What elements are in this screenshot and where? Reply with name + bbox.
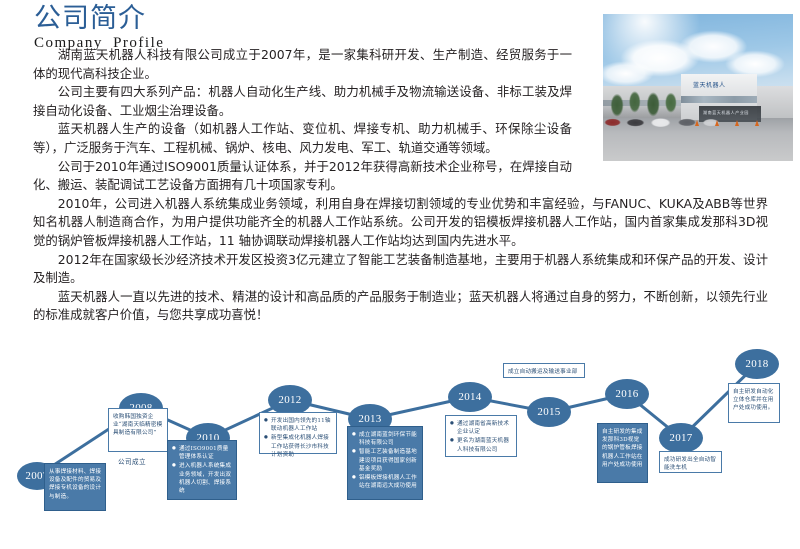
timeline-card-item: 成功研发出全自动智能洗车机 — [664, 456, 718, 472]
timeline-card-item: 自主研发的集成发那科3D视觉的锅炉管板焊接机器人工作站在用户处成功使用 — [602, 428, 644, 469]
timeline-card-item: 通过湖南省高新技术企业认定 — [457, 420, 513, 436]
timeline-node-2017[interactable]: 2017 — [659, 423, 703, 453]
timeline-node-2014[interactable]: 2014 — [448, 382, 492, 412]
timeline-card-item: 收购韩国独资企业“湖南天临精密模具制造有限公司” — [113, 413, 164, 438]
timeline-card-2010[interactable]: 通过ISO9001质量管理体系认证进入机器人系统集成业务领域，开发出双机器人切割… — [167, 440, 237, 500]
company-profile-text: 湖南蓝天机器人科技有限公司成立于2007年，是一家集科研开发、生产制造、经贸服务… — [33, 46, 768, 325]
timeline-card-item: 新型集成化机器人焊接工作站获得长沙市科技计划资助 — [271, 434, 333, 459]
timeline-card-list: 成立湖南蓝剑环保节能科技有限公司智能工艺装备制造基地建设项目获得国家创新基金奖励… — [352, 431, 419, 490]
timeline-card-item: 智能工艺装备制造基地建设项目获得国家创新基金奖励 — [359, 448, 419, 473]
timeline-card-2008[interactable]: 收购韩国独资企业“湖南天临精密模具制造有限公司” — [108, 408, 168, 452]
timeline-card-item: 成立自动搬运及输送事业部 — [508, 368, 581, 376]
timeline-card-2016[interactable]: 自主研发的集成发那科3D视觉的锅炉管板焊接机器人工作站在用户处成功使用 — [597, 423, 648, 483]
timeline-card-2018[interactable]: 自主研发自动化立体仓库并在用户处成功使用。 — [728, 383, 780, 423]
timeline-card-item: 进入机器人系统集成业务领域，开发出双机器人切割、焊接系统 — [179, 462, 233, 495]
timeline-card-item: 铝模板焊接机器人工作站在湖南远大成功使用 — [359, 474, 419, 490]
page-title-cn: 公司简介 — [34, 4, 454, 34]
timeline-card-2015[interactable]: 成立自动搬运及输送事业部 — [503, 363, 585, 378]
timeline-card-2007[interactable]: 从事焊接材料、焊接设备及配件的贸易及焊接专机设备的设计与制造。 — [44, 463, 106, 511]
timeline-node-2018[interactable]: 2018 — [735, 349, 779, 379]
timeline-card-2012[interactable]: 开发出国内领先的11轴联动机器人工作站新型集成化机器人焊接工作站获得长沙市科技计… — [259, 412, 337, 454]
timeline-node-2015[interactable]: 2015 — [527, 397, 571, 427]
timeline-card-item: 通过ISO9001质量管理体系认证 — [179, 445, 233, 461]
timeline-node-2016[interactable]: 2016 — [605, 379, 649, 409]
timeline-card-item: 更名为湖南蓝天机器人科技有限公司 — [457, 437, 513, 453]
timeline-label-company-founded: 公司成立 — [118, 456, 146, 466]
timeline-card-item: 自主研发自动化立体仓库并在用户处成功使用。 — [733, 388, 776, 413]
timeline-node-2012[interactable]: 2012 — [268, 385, 312, 415]
page-header: 公司简介 Company Profile — [34, 4, 454, 52]
timeline-card-2013[interactable]: 成立湖南蓝剑环保节能科技有限公司智能工艺装备制造基地建设项目获得国家创新基金奖励… — [347, 426, 423, 500]
timeline-card-2014[interactable]: 通过湖南省高新技术企业认定更名为湖南蓝天机器人科技有限公司 — [445, 415, 517, 457]
timeline-card-item: 开发出国内领先的11轴联动机器人工作站 — [271, 417, 333, 433]
timeline-card-list: 通过ISO9001质量管理体系认证进入机器人系统集成业务领域，开发出双机器人切割… — [172, 445, 233, 495]
timeline-card-item: 从事焊接材料、焊接设备及配件的贸易及焊接专机设备的设计与制造。 — [49, 468, 102, 501]
timeline-card-item: 成立湖南蓝剑环保节能科技有限公司 — [359, 431, 419, 447]
company-history-timeline: 公司成立 2007 2008 2010 2012 2013 2014 2015 … — [0, 340, 800, 549]
profile-paragraph-6: 2012年在国家级长沙经济技术开发区投资3亿元建立了智能工艺装备制造基地，主要用… — [33, 251, 768, 288]
profile-paragraph-5: 2010年，公司进入机器人系统集成业务领域，利用自身在焊接切割领域的专业优势和丰… — [33, 195, 768, 251]
timeline-card-list: 通过湖南省高新技术企业认定更名为湖南蓝天机器人科技有限公司 — [450, 420, 513, 454]
profile-paragraph-7: 蓝天机器人一直以先进的技术、精湛的设计和高品质的产品服务于制造业；蓝天机器人将通… — [33, 288, 768, 325]
timeline-card-2017[interactable]: 成功研发出全自动智能洗车机 — [659, 451, 722, 473]
timeline-card-list: 开发出国内领先的11轴联动机器人工作站新型集成化机器人焊接工作站获得长沙市科技计… — [264, 417, 333, 459]
photo-text-wrap-spacer — [572, 46, 768, 168]
